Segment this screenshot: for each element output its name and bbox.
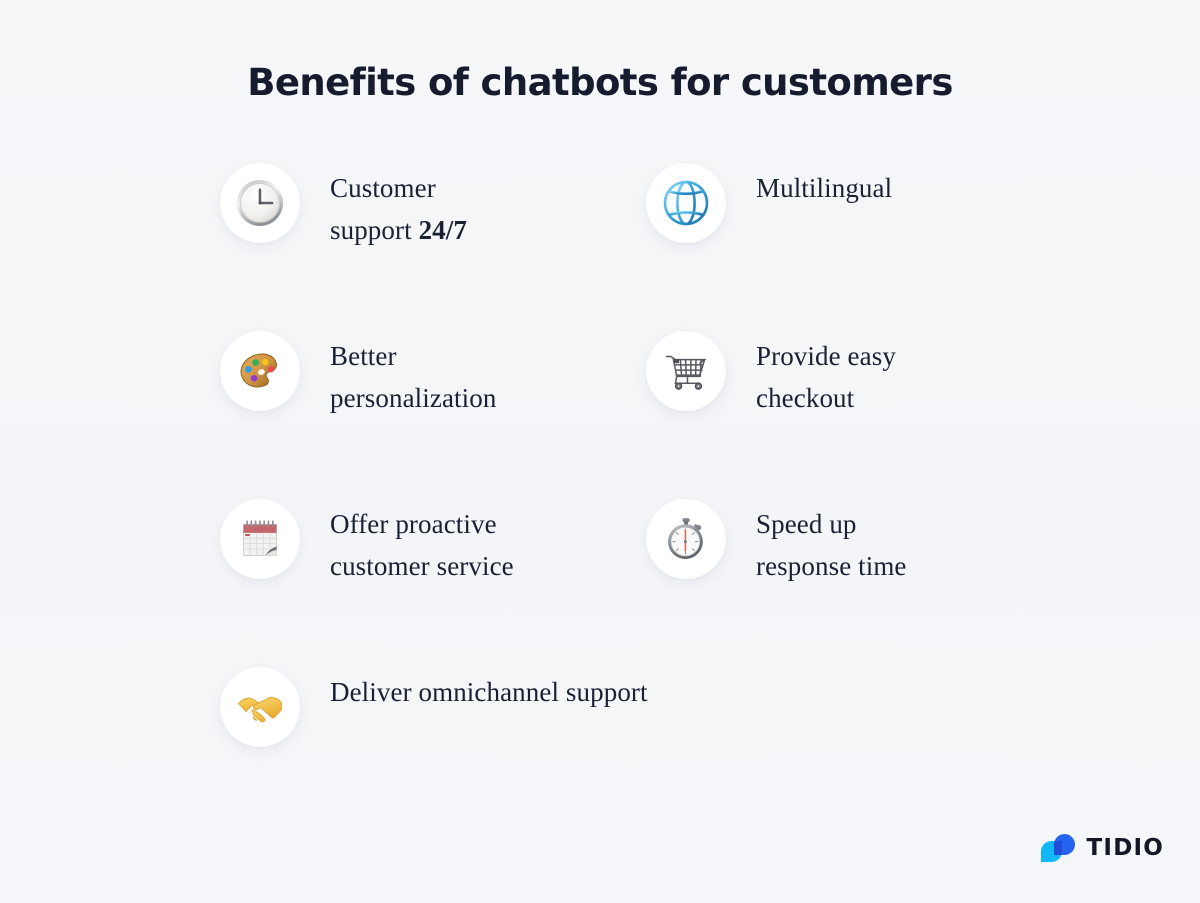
benefit-label-line-2: support (330, 215, 419, 245)
benefit-item-better-personalization: Better personalization (220, 331, 496, 419)
benefit-label: Provide easy checkout (726, 331, 896, 419)
benefit-label-emphasis: 24/7 (419, 215, 467, 245)
benefit-label: Speed up response time (726, 499, 907, 587)
benefit-item-deliver-omnichannel-support: Deliver omnichannel support (220, 667, 648, 747)
benefit-row: Customer support 24/7 (220, 163, 1080, 331)
shopping-cart-icon (646, 331, 726, 411)
clock-three-oclock-icon (220, 163, 300, 243)
benefit-label-line-2: customer service (330, 551, 514, 581)
benefit-row: Deliver omnichannel support (220, 667, 1080, 787)
benefit-item-customer-support: Customer support 24/7 (220, 163, 467, 251)
tidio-logo: TIDIO (1039, 829, 1164, 867)
benefit-label-line-1: Better (330, 341, 397, 371)
benefit-label: Offer proactive customer service (300, 499, 514, 587)
benefit-label: Deliver omnichannel support (300, 667, 648, 713)
benefit-item-multilingual: Multilingual (646, 163, 892, 243)
benefit-label: Better personalization (300, 331, 496, 419)
benefit-item-speed-up-response: Speed up response time (646, 499, 907, 587)
benefit-label-line-2: personalization (330, 383, 496, 413)
benefit-label-line-1: Provide easy (756, 341, 896, 371)
artist-palette-icon (220, 331, 300, 411)
benefit-label-line-1: Multilingual (756, 173, 892, 203)
infographic-canvas: Benefits of chatbots for customers (0, 0, 1200, 903)
tidio-logo-mark-icon (1039, 829, 1077, 867)
benefit-label: Multilingual (726, 163, 892, 209)
benefit-label-line-1: Speed up (756, 509, 857, 539)
handshake-icon (220, 667, 300, 747)
tidio-wordmark: TIDIO (1087, 837, 1164, 860)
benefit-label-line-1: Customer (330, 173, 436, 203)
benefit-label-line-1: Deliver omnichannel support (330, 677, 648, 707)
benefit-item-provide-easy-checkout: Provide easy checkout (646, 331, 896, 419)
benefit-item-offer-proactive-service: Offer proactive customer service (220, 499, 514, 587)
benefit-label-line-1: Offer proactive (330, 509, 497, 539)
benefit-row: Offer proactive customer service (220, 499, 1080, 667)
page-title: Benefits of chatbots for customers (0, 57, 1200, 109)
stopwatch-icon (646, 499, 726, 579)
globe-with-meridians-icon (646, 163, 726, 243)
benefits-grid: Customer support 24/7 (220, 163, 1080, 787)
benefit-label-line-2: response time (756, 551, 907, 581)
benefit-label: Customer support 24/7 (300, 163, 467, 251)
spiral-calendar-icon (220, 499, 300, 579)
benefit-row: Better personalization (220, 331, 1080, 499)
benefit-label-line-2: checkout (756, 383, 854, 413)
